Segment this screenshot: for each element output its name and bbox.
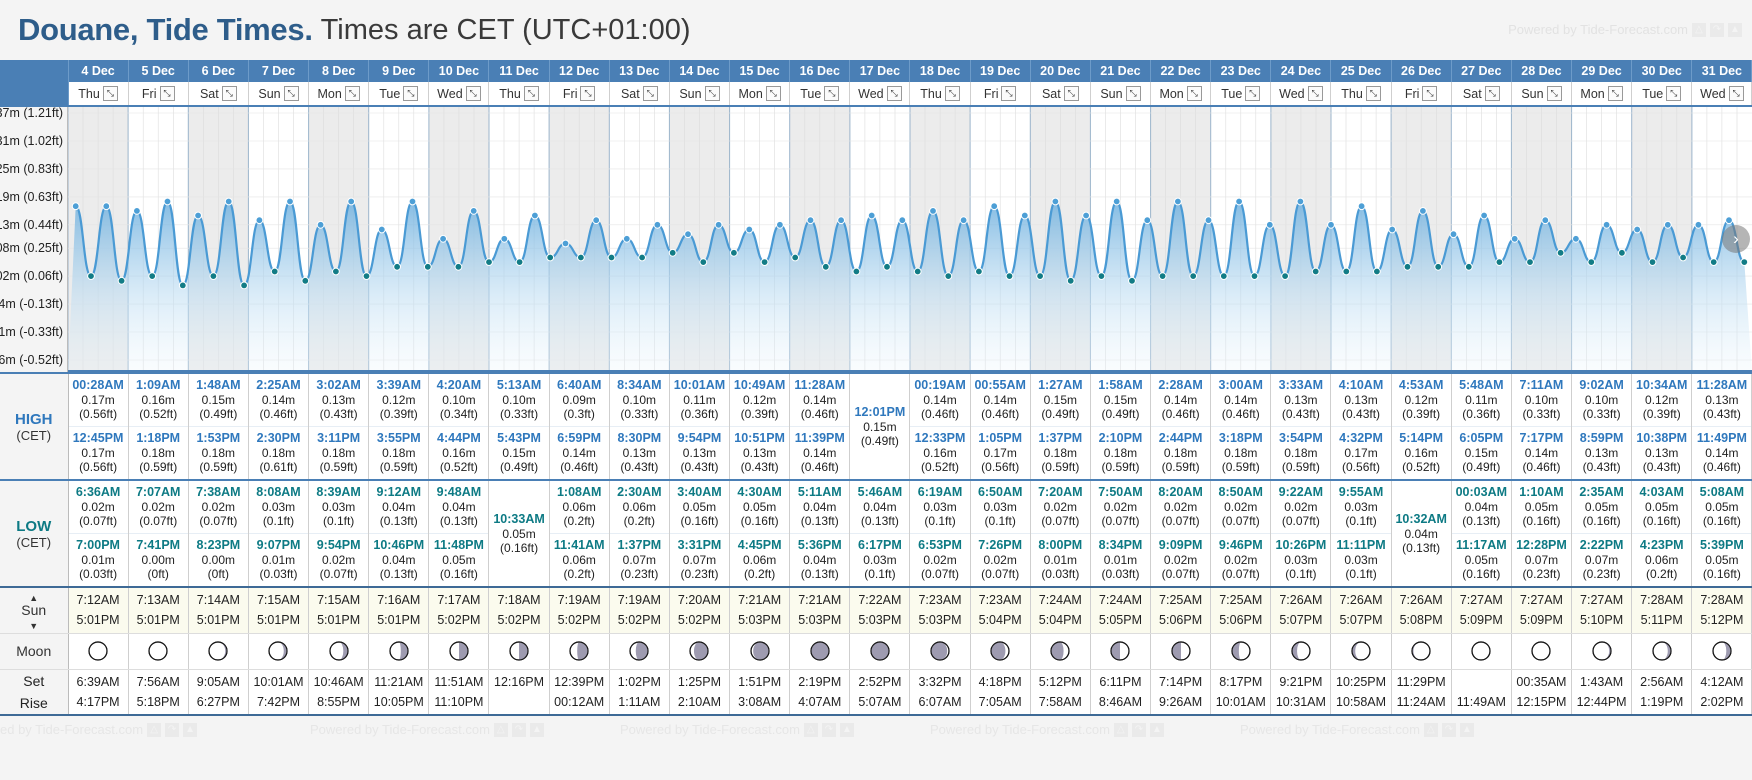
sunset-time-5: 5:01PM [369, 612, 428, 628]
high-tide-metres: 0.13m [683, 446, 716, 460]
moon-cell-3 [248, 633, 308, 669]
high-tide-time: 3:11PM [317, 431, 360, 446]
weekday-cell-13: Wed⤡ [850, 82, 910, 106]
low-tide-entry: 8:20AM0.02m(0.07ft) [1151, 481, 1210, 533]
moonset-time-17: 6:11PM [1091, 674, 1150, 690]
low-tide-metres: 0.02m [1164, 553, 1197, 567]
low-tide-feet: (0.2ft) [564, 567, 595, 581]
low-tide-entry: 6:36AM0.02m(0.07ft) [69, 481, 128, 533]
low-tide-cell-16: 7:20AM0.02m(0.07ft)8:00PM0.01m(0.03ft) [1030, 480, 1090, 587]
low-tide-time: 9:09PM [1159, 538, 1203, 553]
sunset-time-12: 5:03PM [790, 612, 849, 628]
low-tide-entry: 7:38AM0.02m(0.07ft) [189, 481, 248, 533]
sun-cell-7: 7:18AM5:02PM [489, 587, 549, 633]
high-tide-metres: 0.12m [743, 393, 776, 407]
moon-setrise-cell-1: 7:56AM5:18PM [128, 669, 188, 715]
date-header-3[interactable]: 7 Dec [248, 60, 308, 82]
footer-watermark-text-4: Powered by Tide-Forecast.com [1240, 722, 1420, 737]
weekday-label-5: Tue [379, 87, 400, 101]
low-tide-entry: 7:07AM0.02m(0.07ft) [129, 481, 188, 533]
high-tide-entry: 2:44PM0.18m(0.59ft) [1151, 427, 1210, 479]
low-tide-metres: 0.06m [743, 553, 776, 567]
moon-phase-icon-9 [628, 642, 650, 659]
weekday-label-15: Fri [984, 87, 999, 101]
moon-cell-22 [1391, 633, 1451, 669]
moon-setrise-row: SetRise6:39AM4:17PM7:56AM5:18PM9:05AM6:2… [0, 669, 1752, 715]
high-tide-feet: (0.43ft) [1342, 407, 1380, 421]
low-tide-feet: (0.1ft) [1345, 567, 1376, 581]
sun-cell-12: 7:21AM5:03PM [790, 587, 850, 633]
weekday-label-4: Mon [317, 87, 341, 101]
high-tide-metres: 0.14m [803, 393, 836, 407]
high-tide-metres: 0.16m [442, 446, 475, 460]
high-tide-entry: 9:54PM0.13m(0.43ft) [670, 427, 729, 479]
high-tide-time: 5:13AM [497, 378, 541, 393]
moon-setrise-cell-8: 12:39PM00:12AM [549, 669, 609, 715]
date-header-4[interactable]: 8 Dec [309, 60, 369, 82]
sunrise-time-16: 7:24AM [1031, 592, 1090, 608]
low-tide-entry: 8:39AM0.03m(0.1ft) [309, 481, 368, 533]
date-header-18[interactable]: 22 Dec [1151, 60, 1211, 82]
low-tide-metres: 0.03m [262, 500, 295, 514]
date-header-25[interactable]: 29 Dec [1572, 60, 1632, 82]
sun-cell-13: 7:22AM5:03PM [850, 587, 910, 633]
date-header-7[interactable]: 11 Dec [489, 60, 549, 82]
low-tide-time: 3:31PM [678, 538, 722, 553]
low-tide-entry: 8:50AM0.02m(0.07ft) [1211, 481, 1270, 533]
high-tide-time: 1:53PM [196, 431, 240, 446]
expand-day-icon-0[interactable]: ⤡ [103, 86, 118, 101]
high-tide-time: 11:28AM [1697, 378, 1748, 393]
expand-day-icon-14[interactable]: ⤡ [945, 86, 960, 101]
moonrise-time-5: 10:05PM [369, 694, 428, 710]
moon-phase-icon-19 [1230, 642, 1252, 659]
high-tide-entry: 00:19AM0.14m(0.46ft) [910, 374, 969, 426]
y-axis: 0.37m (1.21ft)0.31m (1.02ft)0.25m (0.83f… [0, 107, 68, 372]
high-tide-feet: (0.59ft) [1162, 460, 1200, 474]
moon-setrise-cell-25: 1:43AM12:44PM [1572, 669, 1632, 715]
low-tide-time: 9:54PM [317, 538, 361, 553]
high-tide-time: 1:58AM [1098, 378, 1142, 393]
high-tide-entry: 10:51PM0.13m(0.43ft) [730, 427, 789, 479]
weekday-label-2: Sat [200, 87, 219, 101]
moon-cell-16 [1030, 633, 1090, 669]
low-tide-entry: 9:22AM0.02m(0.07ft) [1271, 481, 1330, 533]
high-tide-metres: 0.12m [1645, 393, 1678, 407]
sun-cell-6: 7:17AM5:02PM [429, 587, 489, 633]
high-tide-feet: (0.46ft) [1222, 407, 1260, 421]
sunset-time-7: 5:02PM [489, 612, 548, 628]
moonset-time-8: 12:39PM [550, 674, 609, 690]
sunrise-time-19: 7:25AM [1211, 592, 1270, 608]
moon-phase-icon-23 [1470, 642, 1492, 659]
high-tide-time: 2:44PM [1159, 431, 1203, 446]
low-tide-metres: 0.02m [1164, 500, 1197, 514]
low-tide-metres: 0.07m [623, 553, 656, 567]
high-tide-entry: 1:05PM0.17m(0.56ft) [971, 427, 1030, 479]
sunrise-time-7: 7:18AM [489, 592, 548, 608]
moon-setrise-cell-0: 6:39AM4:17PM [68, 669, 128, 715]
date-header-23[interactable]: 27 Dec [1451, 60, 1511, 82]
high-tide-entry: 5:13AM0.10m(0.33ft) [489, 374, 548, 426]
watermark-badge-swell-icon: ↷ [1710, 23, 1724, 37]
high-tide-cell-17: 1:58AM0.15m(0.49ft)2:10PM0.18m(0.59ft) [1090, 373, 1150, 480]
expand-day-icon-10[interactable]: ⤡ [705, 86, 720, 101]
high-tide-time: 1:48AM [196, 378, 240, 393]
high-tide-metres: 0.14m [1224, 393, 1257, 407]
high-tide-entry: 3:00AM0.14m(0.46ft) [1211, 374, 1270, 426]
moonrise-time-2: 6:27PM [189, 694, 248, 710]
moonset-time-22: 11:29PM [1392, 674, 1451, 690]
expand-day-icon-15[interactable]: ⤡ [1001, 86, 1016, 101]
sunrise-time-6: 7:17AM [429, 592, 488, 608]
expand-day-icon-3[interactable]: ⤡ [284, 86, 299, 101]
footer-watermark-0: ed by Tide-Forecast.com△↷▲ [0, 722, 197, 737]
date-header-13[interactable]: 17 Dec [850, 60, 910, 82]
expand-day-icon-25[interactable]: ⤡ [1608, 86, 1623, 101]
expand-day-icon-26[interactable]: ⤡ [1666, 86, 1681, 101]
high-tide-entry: 1:53PM0.18m(0.59ft) [189, 427, 248, 479]
sunset-time-10: 5:02PM [670, 612, 729, 628]
date-header-2[interactable]: 6 Dec [188, 60, 248, 82]
expand-day-icon-6[interactable]: ⤡ [466, 86, 481, 101]
low-tide-metres: 0.04m [1465, 500, 1498, 514]
moon-cell-9 [609, 633, 669, 669]
expand-day-icon-20[interactable]: ⤡ [1308, 86, 1323, 101]
high-tide-feet: (0.49ft) [861, 434, 899, 448]
sunrise-time-23: 7:27AM [1452, 592, 1511, 608]
high-tide-metres: 0.18m [262, 446, 295, 460]
weekday-label-14: Thu [920, 87, 942, 101]
date-header-5[interactable]: 9 Dec [369, 60, 429, 82]
sunset-time-16: 5:04PM [1031, 612, 1090, 628]
moon-phase-icon-0 [87, 642, 109, 659]
high-tide-time: 00:28AM [72, 378, 123, 393]
date-header-27[interactable]: 31 Dec [1692, 60, 1752, 82]
sunrise-time-8: 7:19AM [550, 592, 609, 608]
scroll-right-button[interactable]: › [1722, 225, 1750, 253]
low-tide-entry: 8:23PM0.00m(0ft) [189, 534, 248, 586]
moon-setrise-cell-15: 4:18PM7:05AM [970, 669, 1030, 715]
expand-day-icon-12[interactable]: ⤡ [824, 86, 839, 101]
high-tide-time: 6:05PM [1459, 431, 1503, 446]
low-tide-cell-11: 4:30AM0.05m(0.16ft)4:45PM0.06m(0.2ft) [730, 480, 790, 587]
sunset-time-17: 5:05PM [1091, 612, 1150, 628]
low-tide-feet: (0ft) [148, 567, 169, 581]
high-tide-entry: 3:55PM0.18m(0.59ft) [369, 427, 428, 479]
low-tide-feet: (0.07ft) [1282, 514, 1320, 528]
moonset-time-14: 3:32PM [910, 674, 969, 690]
sunrise-time-15: 7:23AM [971, 592, 1030, 608]
moonset-time-13: 2:52PM [850, 674, 909, 690]
high-tide-metres: 0.13m [1705, 393, 1738, 407]
low-tide-time: 9:22AM [1279, 485, 1323, 500]
low-tide-entry: 1:37PM0.07m(0.23ft) [610, 534, 669, 586]
moon-setrise-cell-27: 4:12AM2:02PM [1692, 669, 1752, 715]
expand-day-icon-9[interactable]: ⤡ [643, 86, 658, 101]
weekday-label-19: Tue [1221, 87, 1242, 101]
weekday-label-0: Thu [78, 87, 100, 101]
high-tide-feet: (0.39ft) [741, 407, 779, 421]
moonset-time-12: 2:19PM [790, 674, 849, 690]
high-tide-feet: (0.49ft) [1041, 407, 1079, 421]
moon-cell-13 [850, 633, 910, 669]
low-tide-metres: 0.07m [1525, 553, 1558, 567]
high-tide-feet: (0.43ft) [620, 460, 658, 474]
footer-watermark-3: Powered by Tide-Forecast.com△↷▲ [930, 722, 1164, 737]
moon-setrise-cell-9: 1:02PM1:11AM [609, 669, 669, 715]
date-header-17[interactable]: 21 Dec [1090, 60, 1150, 82]
expand-day-icon-8[interactable]: ⤡ [580, 86, 595, 101]
high-tide-metres: 0.09m [563, 393, 596, 407]
high-tide-feet: (0.56ft) [79, 407, 117, 421]
high-tide-cell-2: 1:48AM0.15m(0.49ft)1:53PM0.18m(0.59ft) [188, 373, 248, 480]
low-tide-entry: 9:48AM0.04m(0.13ft) [429, 481, 488, 533]
footer-badge-wind-icon: △ [1114, 723, 1128, 737]
low-tide-time: 3:40AM [677, 485, 721, 500]
low-tide-entry: 6:17PM0.03m(0.1ft) [850, 534, 909, 586]
high-tide-feet: (0.36ft) [1462, 407, 1500, 421]
sunset-time-27: 5:12PM [1692, 612, 1751, 628]
low-tide-time: 10:32AM [1395, 512, 1446, 527]
moonrise-time-4: 8:55PM [309, 694, 368, 710]
high-tide-time: 10:34AM [1636, 378, 1687, 393]
low-tide-time: 6:50AM [978, 485, 1022, 500]
sunrise-time-24: 7:27AM [1512, 592, 1571, 608]
low-tide-time: 7:07AM [136, 485, 180, 500]
low-tide-feet: (0.13ft) [380, 514, 418, 528]
high-tide-metres: 0.11m [683, 393, 715, 407]
low-tide-time: 7:00PM [76, 538, 120, 553]
high-tide-entry: 2:25AM0.14m(0.46ft) [249, 374, 308, 426]
low-tide-metres: 0.03m [322, 500, 355, 514]
high-tide-metres: 0.18m [382, 446, 415, 460]
low-tide-time: 9:12AM [377, 485, 421, 500]
low-tide-time: 8:39AM [316, 485, 360, 500]
high-tide-feet: (0.46ft) [801, 407, 839, 421]
low-tide-feet: (0.1ft) [263, 514, 294, 528]
expand-day-icon-7[interactable]: ⤡ [524, 86, 539, 101]
footer-badge-tide-icon: ▲ [183, 723, 197, 737]
low-tide-entry: 2:22PM0.07m(0.23ft) [1572, 534, 1631, 586]
moon-phase-icon-6 [448, 642, 470, 659]
sun-cell-20: 7:26AM5:07PM [1271, 587, 1331, 633]
high-tide-metres: 0.14m [1164, 393, 1197, 407]
high-tide-cell-8: 6:40AM0.09m(0.3ft)6:59PM0.14m(0.46ft) [549, 373, 609, 480]
low-tide-cell-5: 9:12AM0.04m(0.13ft)10:46PM0.04m(0.13ft) [369, 480, 429, 587]
high-tide-entry: 1:48AM0.15m(0.49ft) [189, 374, 248, 426]
high-tide-feet: (0.46ft) [921, 407, 959, 421]
high-tide-metres: 0.12m [1404, 393, 1437, 407]
moon-setrise-cell-5: 11:21AM10:05PM [369, 669, 429, 715]
low-tide-entry: 11:48PM0.05m(0.16ft) [429, 534, 488, 586]
weekday-cell-6: Wed⤡ [429, 82, 489, 106]
sunset-time-8: 5:02PM [550, 612, 609, 628]
high-tide-entry: 2:28AM0.14m(0.46ft) [1151, 374, 1210, 426]
expand-day-icon-13[interactable]: ⤡ [887, 86, 902, 101]
expand-day-icon-21[interactable]: ⤡ [1366, 86, 1381, 101]
high-tide-entry: 4:10AM0.13m(0.43ft) [1331, 374, 1390, 426]
footer-watermark-text-2: Powered by Tide-Forecast.com [620, 722, 800, 737]
high-tide-time: 00:19AM [914, 378, 965, 393]
low-tide-feet: (0.13ft) [1402, 541, 1440, 555]
high-tide-metres: 0.13m [1344, 393, 1377, 407]
high-tide-entry: 11:49PM0.14m(0.46ft) [1692, 427, 1751, 479]
expand-day-icon-17[interactable]: ⤡ [1126, 86, 1141, 101]
date-header-26[interactable]: 30 Dec [1632, 60, 1692, 82]
date-header-15[interactable]: 19 Dec [970, 60, 1030, 82]
low-tide-feet: (0.16ft) [500, 541, 538, 555]
high-tide-entry: 10:49AM0.12m(0.39ft) [730, 374, 789, 426]
high-tide-time: 2:28AM [1158, 378, 1202, 393]
high-tide-feet: (0.33ft) [500, 407, 538, 421]
low-tide-entry: 7:20AM0.02m(0.07ft) [1031, 481, 1090, 533]
date-header-9[interactable]: 13 Dec [609, 60, 669, 82]
weekday-label-18: Mon [1159, 87, 1183, 101]
footer-badge-tide-icon: ▲ [1150, 723, 1164, 737]
expand-day-icon-19[interactable]: ⤡ [1245, 86, 1260, 101]
low-tide-feet: (0.23ft) [680, 567, 718, 581]
high-tide-time: 8:30PM [617, 431, 661, 446]
expand-day-icon-22[interactable]: ⤡ [1422, 86, 1437, 101]
tide-grid: 4 Dec5 Dec6 Dec7 Dec8 Dec9 Dec10 Dec11 D… [0, 60, 1752, 716]
low-tide-metres: 0.02m [984, 553, 1017, 567]
moon-phase-icon-24 [1530, 642, 1552, 659]
low-tide-feet: (0.16ft) [1703, 514, 1741, 528]
low-tide-metres: 0.04m [382, 553, 415, 567]
footer-watermark-text-0: ed by Tide-Forecast.com [0, 722, 143, 737]
moon-cell-7 [489, 633, 549, 669]
sunset-time-4: 5:01PM [309, 612, 368, 628]
sunset-time-23: 5:09PM [1452, 612, 1511, 628]
weekday-label-13: Wed [858, 87, 883, 101]
date-header-10[interactable]: 14 Dec [669, 60, 729, 82]
low-tide-metres: 0.05m [743, 500, 776, 514]
high-tide-time: 1:09AM [136, 378, 180, 393]
high-tide-feet: (0.43ft) [1643, 460, 1681, 474]
high-tide-time: 9:54PM [678, 431, 722, 446]
low-tide-entry: 8:00PM0.01m(0.03ft) [1031, 534, 1090, 586]
sunset-time-22: 5:08PM [1392, 612, 1451, 628]
moon-phase-icon-16 [1049, 642, 1071, 659]
moonrise-time-0: 4:17PM [69, 694, 128, 710]
moonrise-time-6: 11:10PM [429, 694, 488, 710]
low-tide-time: 00:03AM [1456, 485, 1507, 500]
sunset-time-24: 5:09PM [1512, 612, 1571, 628]
high-tide-time: 3:18PM [1219, 431, 1263, 446]
expand-day-icon-16[interactable]: ⤡ [1064, 86, 1079, 101]
low-tide-time: 7:20AM [1038, 485, 1082, 500]
high-tide-feet: (0.46ft) [1703, 460, 1741, 474]
low-tide-metres: 0.04m [803, 500, 836, 514]
grid-corner [0, 60, 68, 82]
date-header-8[interactable]: 12 Dec [549, 60, 609, 82]
moon-setrise-cell-4: 10:46AM8:55PM [309, 669, 369, 715]
high-tide-metres: 0.13m [743, 446, 776, 460]
date-header-12[interactable]: 16 Dec [790, 60, 850, 82]
weekday-cell-12: Tue⤡ [790, 82, 850, 106]
high-tide-entry: 11:28AM0.13m(0.43ft) [1692, 374, 1751, 426]
expand-day-icon-1[interactable]: ⤡ [160, 86, 175, 101]
sunrise-time-22: 7:26AM [1392, 592, 1451, 608]
expand-day-icon-18[interactable]: ⤡ [1187, 86, 1202, 101]
weekday-label-10: Sun [679, 87, 701, 101]
date-header-16[interactable]: 20 Dec [1030, 60, 1090, 82]
high-tide-cell-0: 00:28AM0.17m(0.56ft)12:45PM0.17m(0.56ft) [68, 373, 128, 480]
date-header-11[interactable]: 15 Dec [730, 60, 790, 82]
high-tide-feet: (0.59ft) [380, 460, 418, 474]
low-tide-feet: (0.2ft) [1646, 567, 1677, 581]
moon-setrise-cell-26: 2:56AM1:19PM [1632, 669, 1692, 715]
watermark-top-text: Powered by Tide-Forecast.com [1508, 22, 1688, 37]
expand-day-icon-4[interactable]: ⤡ [345, 86, 360, 101]
date-header-22[interactable]: 26 Dec [1391, 60, 1451, 82]
footer-badge-wind-icon: △ [494, 723, 508, 737]
high-tide-metres: 0.10m [1525, 393, 1558, 407]
moon-cell-25 [1572, 633, 1632, 669]
low-tide-feet: (0.07ft) [79, 514, 117, 528]
expand-day-icon-27[interactable]: ⤡ [1729, 86, 1744, 101]
date-header-14[interactable]: 18 Dec [910, 60, 970, 82]
low-tide-entry: 4:03AM0.05m(0.16ft) [1632, 481, 1691, 533]
low-tide-feet: (0.13ft) [1462, 514, 1500, 528]
low-tide-time: 8:20AM [1158, 485, 1202, 500]
low-tide-time: 12:28PM [1516, 538, 1567, 553]
expand-day-icon-2[interactable]: ⤡ [222, 86, 237, 101]
moon-setrise-cell-23: 11:49AM [1451, 669, 1511, 715]
low-tide-entry: 9:46PM0.02m(0.07ft) [1211, 534, 1270, 586]
sunset-time-14: 5:03PM [910, 612, 969, 628]
high-tide-time: 00:55AM [974, 378, 1025, 393]
moonset-time-3: 10:01AM [249, 674, 308, 690]
moon-cell-18 [1151, 633, 1211, 669]
expand-day-icon-11[interactable]: ⤡ [766, 86, 781, 101]
date-header-0[interactable]: 4 Dec [68, 60, 128, 82]
high-tide-feet: (0.43ft) [1703, 407, 1741, 421]
footer-badge-tide-icon: ▲ [840, 723, 854, 737]
high-tide-metres: 0.17m [984, 446, 1017, 460]
low-tide-metres: 0.04m [442, 500, 475, 514]
date-header-1[interactable]: 5 Dec [128, 60, 188, 82]
low-tide-cell-13: 5:46AM0.04m(0.13ft)6:17PM0.03m(0.1ft) [850, 480, 910, 587]
weekday-label-9: Sat [621, 87, 640, 101]
low-tide-cell-12: 5:11AM0.04m(0.13ft)5:36PM0.04m(0.13ft) [790, 480, 850, 587]
moon-cell-17 [1090, 633, 1150, 669]
moonset-time-24: 00:35AM [1512, 674, 1571, 690]
moon-setrise-cell-12: 2:19PM4:07AM [790, 669, 850, 715]
high-tide-cell-6: 4:20AM0.10m(0.34ft)4:44PM0.16m(0.52ft) [429, 373, 489, 480]
low-tide-cell-24: 1:10AM0.05m(0.16ft)12:28PM0.07m(0.23ft) [1511, 480, 1571, 587]
moon-setrise-cell-19: 8:17PM10:01AM [1211, 669, 1271, 715]
moonrise-time-21: 10:58AM [1331, 694, 1390, 710]
low-tide-time: 2:22PM [1580, 538, 1624, 553]
expand-day-icon-23[interactable]: ⤡ [1485, 86, 1500, 101]
date-header-21[interactable]: 25 Dec [1331, 60, 1391, 82]
expand-day-icon-24[interactable]: ⤡ [1547, 86, 1562, 101]
date-header-6[interactable]: 10 Dec [429, 60, 489, 82]
footer-badge-wind-icon: △ [147, 723, 161, 737]
low-tide-feet: (0.07ft) [1162, 514, 1200, 528]
date-header-20[interactable]: 24 Dec [1271, 60, 1331, 82]
date-header-24[interactable]: 28 Dec [1511, 60, 1571, 82]
weekday-label-22: Fri [1405, 87, 1420, 101]
date-header-19[interactable]: 23 Dec [1211, 60, 1271, 82]
weekday-label-20: Wed [1279, 87, 1304, 101]
low-tide-metres: 0.05m [1645, 500, 1678, 514]
low-tide-entry: 4:45PM0.06m(0.2ft) [730, 534, 789, 586]
low-tide-metres: 0.02m [1224, 553, 1257, 567]
expand-day-icon-5[interactable]: ⤡ [403, 86, 418, 101]
